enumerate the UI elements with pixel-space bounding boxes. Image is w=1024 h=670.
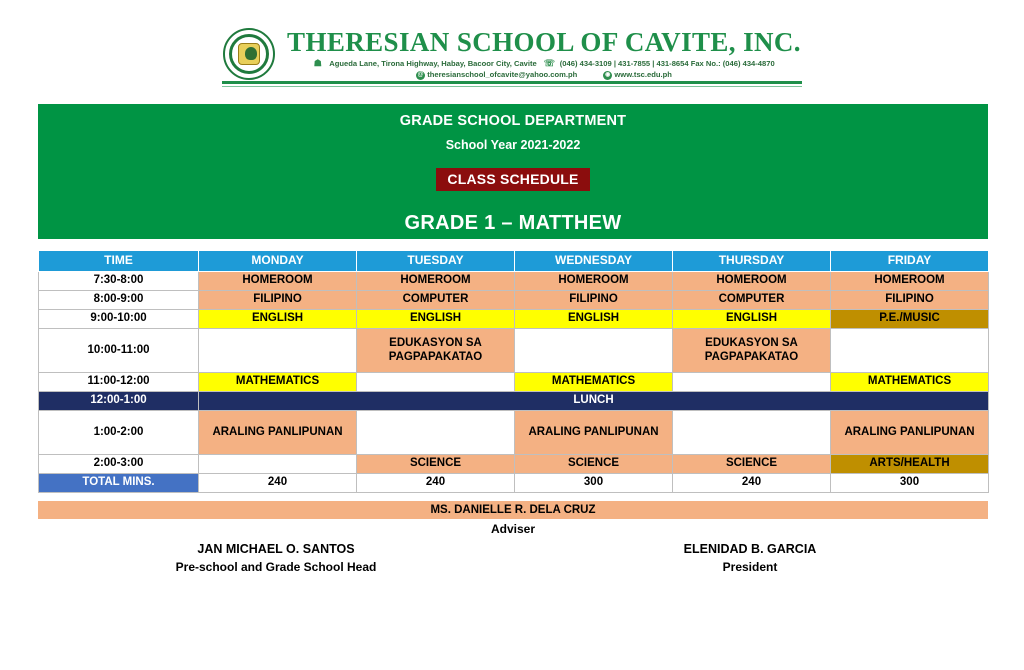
subject-cell: HOMEROOM [357,272,515,291]
signatory-left-title: Pre-school and Grade School Head [66,560,486,574]
column-header-friday: FRIDAY [831,251,989,272]
time-cell: 1:00-2:00 [39,411,199,455]
table-row: 8:00-9:00 FILIPINO COMPUTER FILIPINO COM… [39,291,989,310]
school-email: theresianschool_ofcavite@yahoo.com.ph [427,70,577,79]
schedule-header-row: TIME MONDAY TUESDAY WEDNESDAY THURSDAY F… [39,251,989,272]
subject-cell: ARTS/HEALTH [831,455,989,474]
subject-cell [357,411,515,455]
school-phones: (046) 434-3109 | 431-7855 | 431-8654 Fax… [560,59,775,68]
school-address: Agueda Lane, Tirona Highway, Habay, Baco… [329,59,536,68]
column-header-wednesday: WEDNESDAY [515,251,673,272]
subject-cell: MATHEMATICS [831,373,989,392]
subject-cell: ENGLISH [199,310,357,329]
subject-cell: ARALING PANLIPUNAN [831,411,989,455]
column-header-time: TIME [39,251,199,272]
time-cell: 12:00-1:00 [39,392,199,411]
lunch-cell: LUNCH [199,392,989,411]
adviser-name-bar: MS. DANIELLE R. DELA CRUZ [38,501,988,519]
grade-section-title: GRADE 1 – MATTHEW [405,212,622,235]
signatory-right: ELENIDAD B. GARCIA President [540,540,988,574]
letterhead-divider [222,81,802,87]
subject-cell: ENGLISH [357,310,515,329]
class-schedule-page: THERESIAN SCHOOL OF CAVITE, INC. ☗ Agued… [0,0,1024,670]
subject-cell [515,329,673,373]
signatory-left: JAN MICHAEL O. SANTOS Pre-school and Gra… [38,540,486,574]
total-mins-label: TOTAL MINS. [39,474,199,493]
subject-cell [199,329,357,373]
subject-cell: EDUKASYON SA PAGPAPAKATAO [673,329,831,373]
time-cell: 11:00-12:00 [39,373,199,392]
schedule-table: TIME MONDAY TUESDAY WEDNESDAY THURSDAY F… [38,250,989,493]
school-seal-icon [223,28,275,80]
subject-cell: ENGLISH [673,310,831,329]
time-cell: 9:00-10:00 [39,310,199,329]
class-schedule-badge: CLASS SCHEDULE [436,168,589,191]
subject-cell: FILIPINO [831,291,989,310]
time-cell: 10:00-11:00 [39,329,199,373]
total-cell: 240 [357,474,515,493]
banner: GRADE SCHOOL DEPARTMENT School Year 2021… [38,104,988,239]
subject-cell: HOMEROOM [515,272,673,291]
subject-cell: HOMEROOM [673,272,831,291]
total-cell: 300 [515,474,673,493]
subject-cell [673,411,831,455]
subject-cell: COMPUTER [357,291,515,310]
signatory-right-title: President [540,560,960,574]
time-cell: 2:00-3:00 [39,455,199,474]
subject-cell: SCIENCE [357,455,515,474]
subject-cell: COMPUTER [673,291,831,310]
subject-cell [673,373,831,392]
table-row: 2:00-3:00 SCIENCE SCIENCE SCIENCE ARTS/H… [39,455,989,474]
subject-cell [199,455,357,474]
subject-cell: ARALING PANLIPUNAN [199,411,357,455]
subject-cell: MATHEMATICS [515,373,673,392]
signatories: JAN MICHAEL O. SANTOS Pre-school and Gra… [38,540,988,574]
subject-cell: ARALING PANLIPUNAN [515,411,673,455]
table-row: 1:00-2:00 ARALING PANLIPUNAN ARALING PAN… [39,411,989,455]
subject-cell: HOMEROOM [831,272,989,291]
home-icon: ☗ [313,59,322,68]
subject-cell [831,329,989,373]
signatory-right-name: ELENIDAD B. GARCIA [540,542,960,556]
letterhead-contact-line-2: @ theresianschool_ofcavite@yahoo.com.ph … [416,70,672,80]
total-cell: 240 [673,474,831,493]
school-name: THERESIAN SCHOOL OF CAVITE, INC. [287,28,801,56]
subject-cell: SCIENCE [673,455,831,474]
subject-cell [357,373,515,392]
school-website: www.tsc.edu.ph [614,70,672,79]
phone-icon: ☏ [544,59,553,68]
subject-cell: SCIENCE [515,455,673,474]
time-cell: 7:30-8:00 [39,272,199,291]
table-row: 7:30-8:00 HOMEROOM HOMEROOM HOMEROOM HOM… [39,272,989,291]
department-title: GRADE SCHOOL DEPARTMENT [400,113,626,129]
subject-cell: ENGLISH [515,310,673,329]
adviser-role: Adviser [38,522,988,536]
subject-cell: MATHEMATICS [199,373,357,392]
subject-cell: P.E./MUSIC [831,310,989,329]
total-cell: 240 [199,474,357,493]
subject-cell: HOMEROOM [199,272,357,291]
table-row: 10:00-11:00 EDUKASYON SA PAGPAPAKATAO ED… [39,329,989,373]
email-icon: @ [416,71,425,80]
letterhead-contact-line-1: ☗ Agueda Lane, Tirona Highway, Habay, Ba… [313,59,774,68]
subject-cell: EDUKASYON SA PAGPAPAKATAO [357,329,515,373]
school-year: School Year 2021-2022 [446,138,581,152]
column-header-thursday: THURSDAY [673,251,831,272]
total-cell: 300 [831,474,989,493]
letterhead: THERESIAN SCHOOL OF CAVITE, INC. ☗ Agued… [0,28,1024,80]
subject-cell: FILIPINO [199,291,357,310]
table-row-totals: TOTAL MINS. 240 240 300 240 300 [39,474,989,493]
subject-cell: FILIPINO [515,291,673,310]
table-row: 9:00-10:00 ENGLISH ENGLISH ENGLISH ENGLI… [39,310,989,329]
column-header-monday: MONDAY [199,251,357,272]
table-row: 11:00-12:00 MATHEMATICS MATHEMATICS MATH… [39,373,989,392]
time-cell: 8:00-9:00 [39,291,199,310]
signatory-left-name: JAN MICHAEL O. SANTOS [66,542,486,556]
column-header-tuesday: TUESDAY [357,251,515,272]
table-row-lunch: 12:00-1:00 LUNCH [39,392,989,411]
globe-icon: ◉ [603,71,612,80]
